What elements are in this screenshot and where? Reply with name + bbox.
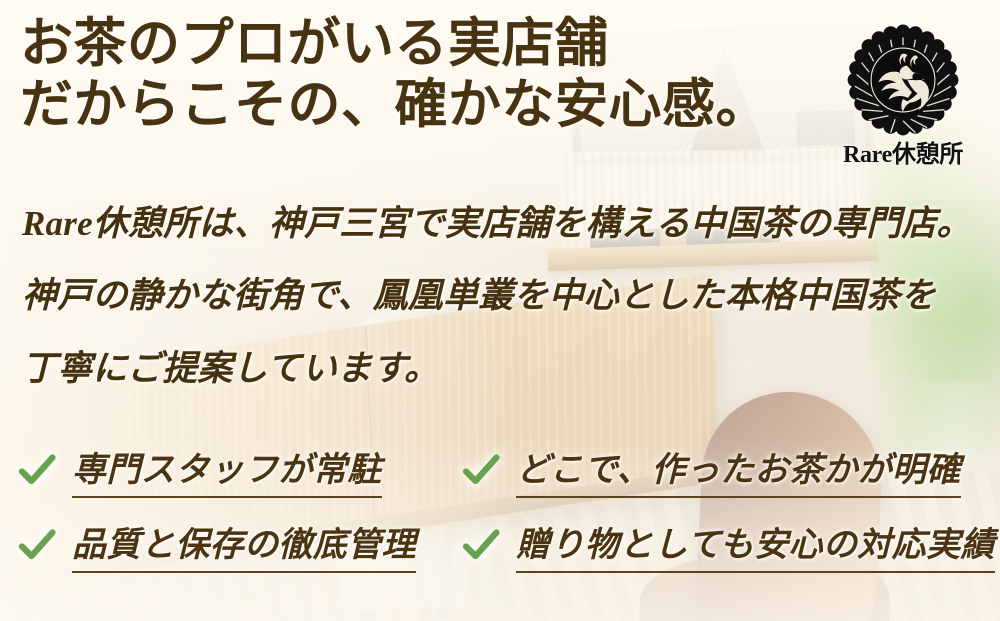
checklist-item-label: 贈り物としても安心の対応実績 [516,517,995,573]
phoenix-teacup-emblem-icon [847,24,959,136]
check-icon [18,451,56,489]
checklist-item: 専門スタッフが常駐 [18,432,448,507]
logo-wordmark: Rare休憩所 [833,134,973,169]
checklist-item: 品質と保存の徹底管理 [18,507,448,582]
headline-block: お茶のプロがいる実店舗 だからこその、確かな安心感。 [20,14,820,137]
lead-line-2: 神戸の静かな街角で、鳳凰単叢を中心とした本格中国茶を [22,260,992,332]
checklist-item: どこで、作ったお茶かが明確 [462,432,995,507]
lead-paragraph-block: Rare休憩所は、神戸三宮で実店舗を構える中国茶の専門店。 神戸の静かな街角で、… [22,188,992,405]
lead-line-3: 丁寧にご提案しています。 [22,333,992,405]
checklist-item-label: 専門スタッフが常駐 [72,442,382,498]
lead-line-1: Rare休憩所は、神戸三宮で実店舗を構える中国茶の専門店。 [22,188,992,260]
headline-line-2: だからこその、確かな安心感。 [20,75,820,136]
promo-banner: お茶のプロがいる実店舗 だからこその、確かな安心感。 Rare休憩所は、神戸三宮… [0,0,1000,621]
check-icon [18,526,56,564]
checklist-item-label: どこで、作ったお茶かが明確 [516,442,961,498]
brand-logo: Rare休憩所 [833,24,973,169]
headline-line-1: お茶のプロがいる実店舗 [20,14,820,75]
feature-checklist: 専門スタッフが常駐 どこで、作ったお茶かが明確 品質と保存の徹底管理 [18,432,982,582]
banner-content: お茶のプロがいる実店舗 だからこその、確かな安心感。 Rare休憩所は、神戸三宮… [0,0,1000,621]
checklist-item: 贈り物としても安心の対応実績 [462,507,995,582]
check-icon [462,526,500,564]
check-icon [462,451,500,489]
checklist-item-label: 品質と保存の徹底管理 [72,517,416,573]
